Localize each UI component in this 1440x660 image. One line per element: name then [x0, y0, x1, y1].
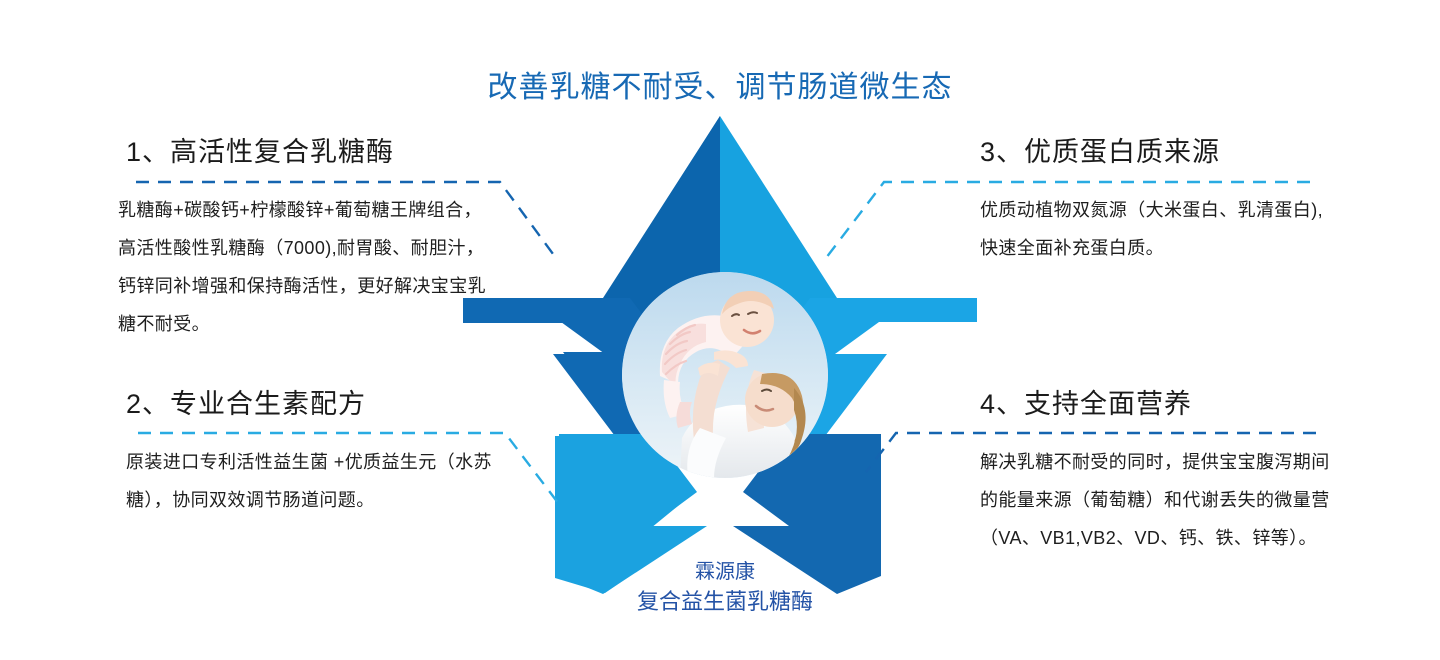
- feature-3-body: 优质动植物双氮源（大米蛋白、乳清蛋白),快速全面补充蛋白质。: [980, 191, 1336, 267]
- infographic-canvas: 改善乳糖不耐受、调节肠道微生态: [0, 0, 1440, 660]
- feature-1-body: 乳糖酶+碳酸钙+柠檬酸锌+葡萄糖王牌组合，高活性酸性乳糖酶（7000),耐胃酸、…: [118, 191, 490, 344]
- brand-name: 霖源康: [560, 558, 890, 586]
- feature-2-body: 原装进口专利活性益生菌 +优质益生元（水苏糖），协同双效调节肠道问题。: [118, 443, 498, 519]
- feature-block-4: 4、支持全面营养 解决乳糖不耐受的同时，提供宝宝腹泻期间的能量来源（葡萄糖）和代…: [980, 382, 1380, 557]
- feature-3-heading: 3、优质蛋白质来源: [980, 130, 1380, 169]
- feature-1-heading: 1、高活性复合乳糖酶: [118, 130, 518, 169]
- center-photo-mother-and-baby: [622, 272, 828, 478]
- feature-4-body: 解决乳糖不耐受的同时，提供宝宝腹泻期间的能量来源（葡萄糖）和代谢丢失的微量营（V…: [980, 443, 1340, 557]
- product-name: 复合益生菌乳糖酶: [560, 586, 890, 617]
- brand-block: 霖源康 复合益生菌乳糖酶: [560, 558, 890, 618]
- feature-block-2: 2、专业合生素配方 原装进口专利活性益生菌 +优质益生元（水苏糖），协同双效调节…: [118, 382, 518, 519]
- feature-4-heading: 4、支持全面营养: [980, 382, 1380, 421]
- feature-2-heading: 2、专业合生素配方: [118, 382, 518, 421]
- feature-block-3: 3、优质蛋白质来源 优质动植物双氮源（大米蛋白、乳清蛋白),快速全面补充蛋白质。: [980, 130, 1380, 267]
- page-title: 改善乳糖不耐受、调节肠道微生态: [0, 62, 1440, 106]
- feature-block-1: 1、高活性复合乳糖酶 乳糖酶+碳酸钙+柠檬酸锌+葡萄糖王牌组合，高活性酸性乳糖酶…: [118, 130, 518, 344]
